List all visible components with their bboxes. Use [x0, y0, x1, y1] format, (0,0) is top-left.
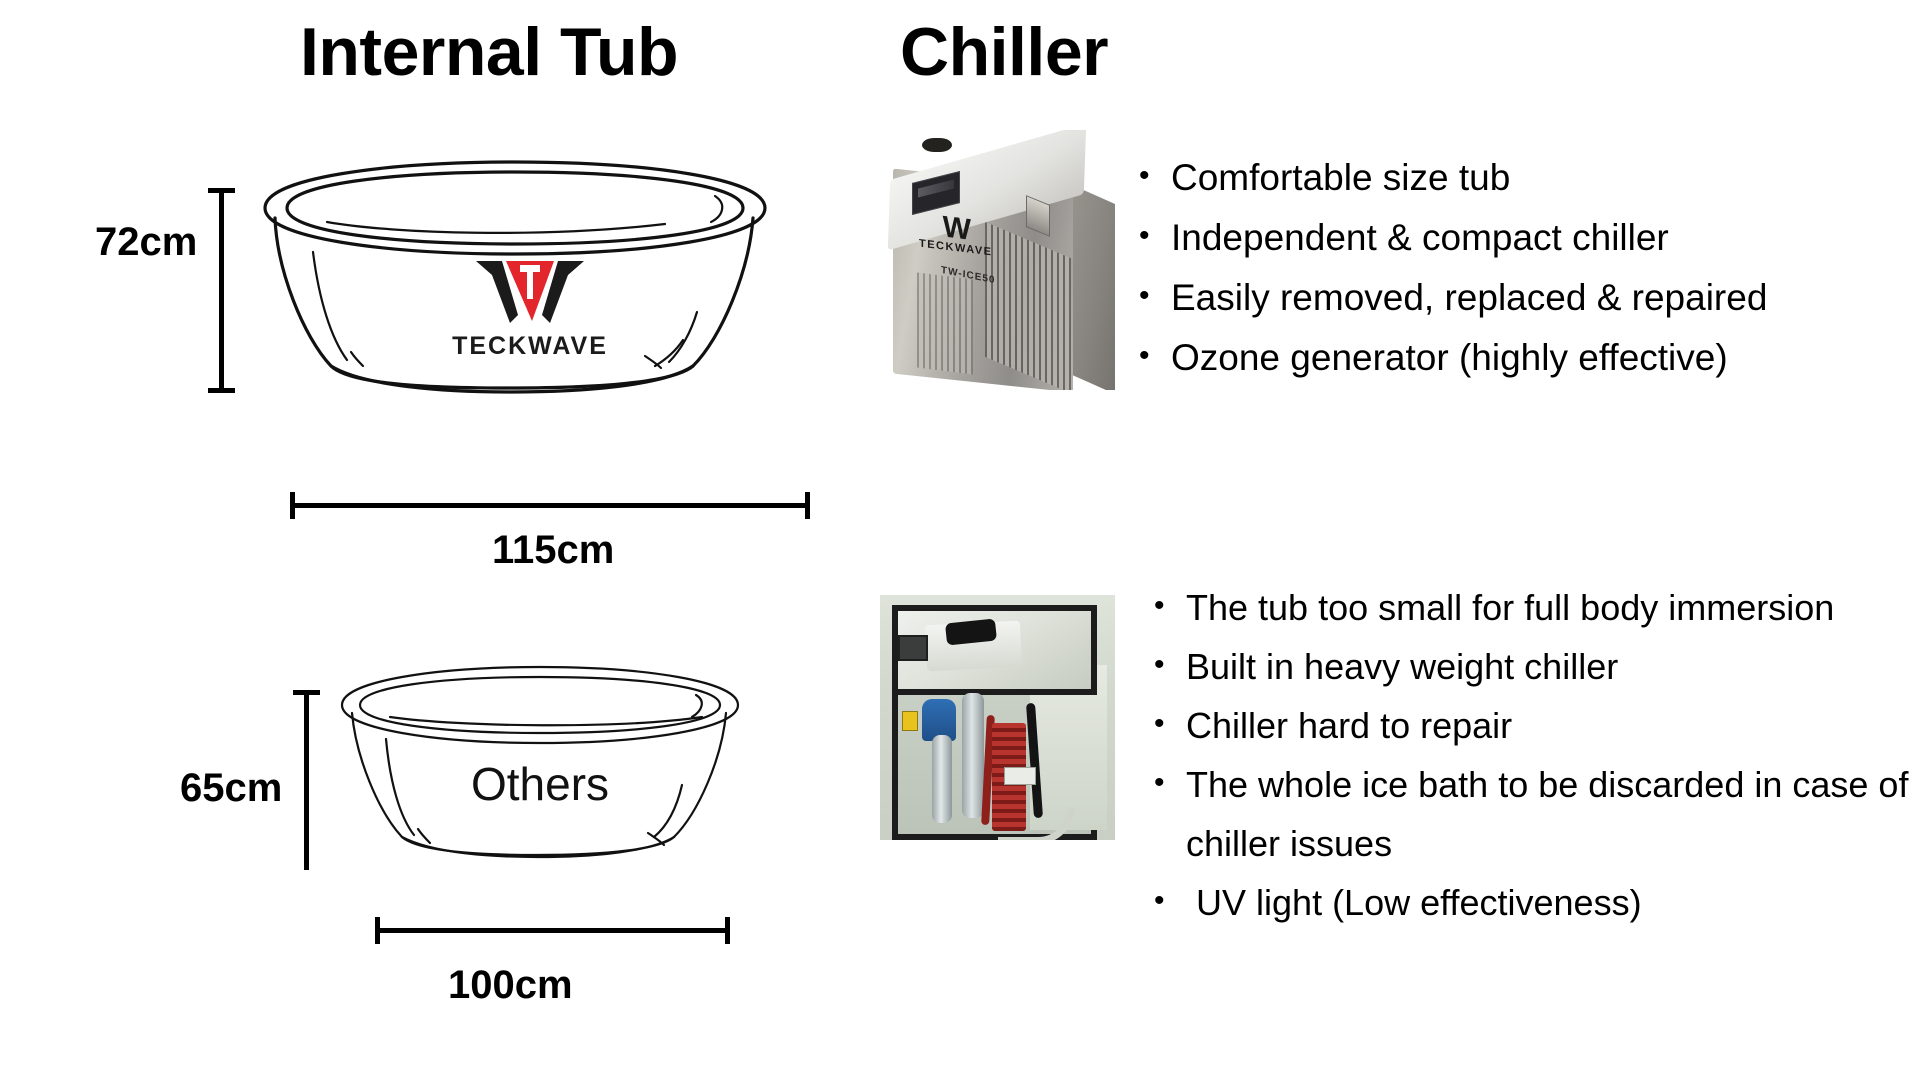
competitor-drawbacks-list: The tub too small for full body immersio…: [1150, 578, 1910, 932]
dimension-label-65cm: 65cm: [180, 768, 282, 808]
slide-canvas: Internal Tub Chiller 72cm: [0, 0, 1920, 1080]
teckwave-tub-illustration: TECKWAVE: [245, 160, 785, 410]
list-item: The whole ice bath to be discarded in ca…: [1150, 755, 1910, 873]
dimension-label-115cm: 115cm: [492, 530, 614, 570]
dimension-line-width-100: [375, 928, 730, 933]
competitor-warning-label-icon: [902, 711, 918, 731]
teckwave-logo-wordmark: TECKWAVE: [435, 332, 625, 361]
competitor-control-screen: [898, 635, 928, 661]
competitor-pipe-secondary: [932, 735, 952, 823]
competitor-pipe-main: [962, 693, 984, 818]
teckwave-logo-mark-icon: [470, 255, 590, 327]
competitor-unit-photo: [880, 595, 1115, 840]
dimension-line-height-65: [304, 690, 309, 870]
teckwave-logo: TECKWAVE: [435, 255, 625, 361]
chiller-vent-grille-secondary: [917, 273, 973, 375]
others-tub-illustration: Others: [330, 665, 750, 865]
page-title-internal-tub: Internal Tub: [300, 18, 678, 86]
list-item: Built in heavy weight chiller: [1150, 637, 1910, 696]
dimension-label-100cm: 100cm: [448, 965, 573, 1005]
chiller-knob-icon: [922, 138, 952, 152]
list-item: Easily removed, replaced & repaired: [1135, 268, 1767, 328]
list-item: Chiller hard to repair: [1150, 696, 1910, 755]
chiller-benefits-list: Comfortable size tub Independent & compa…: [1135, 148, 1767, 388]
list-item: Comfortable size tub: [1135, 148, 1767, 208]
dimension-line-height-72: [219, 188, 224, 393]
competitor-small-module: [1004, 767, 1036, 785]
list-item: Ozone generator (highly effective): [1135, 328, 1767, 388]
chiller-product-photo: W TECKWAVE TW-ICE50: [865, 130, 1135, 390]
others-tub-label: Others: [390, 757, 690, 811]
list-item: The tub too small for full body immersio…: [1150, 578, 1910, 637]
list-item: UV light (Low effectiveness): [1150, 873, 1910, 932]
dimension-line-width-115: [290, 503, 810, 508]
page-title-chiller: Chiller: [900, 18, 1108, 86]
dimension-label-72cm: 72cm: [95, 222, 197, 262]
list-item: Independent & compact chiller: [1135, 208, 1767, 268]
